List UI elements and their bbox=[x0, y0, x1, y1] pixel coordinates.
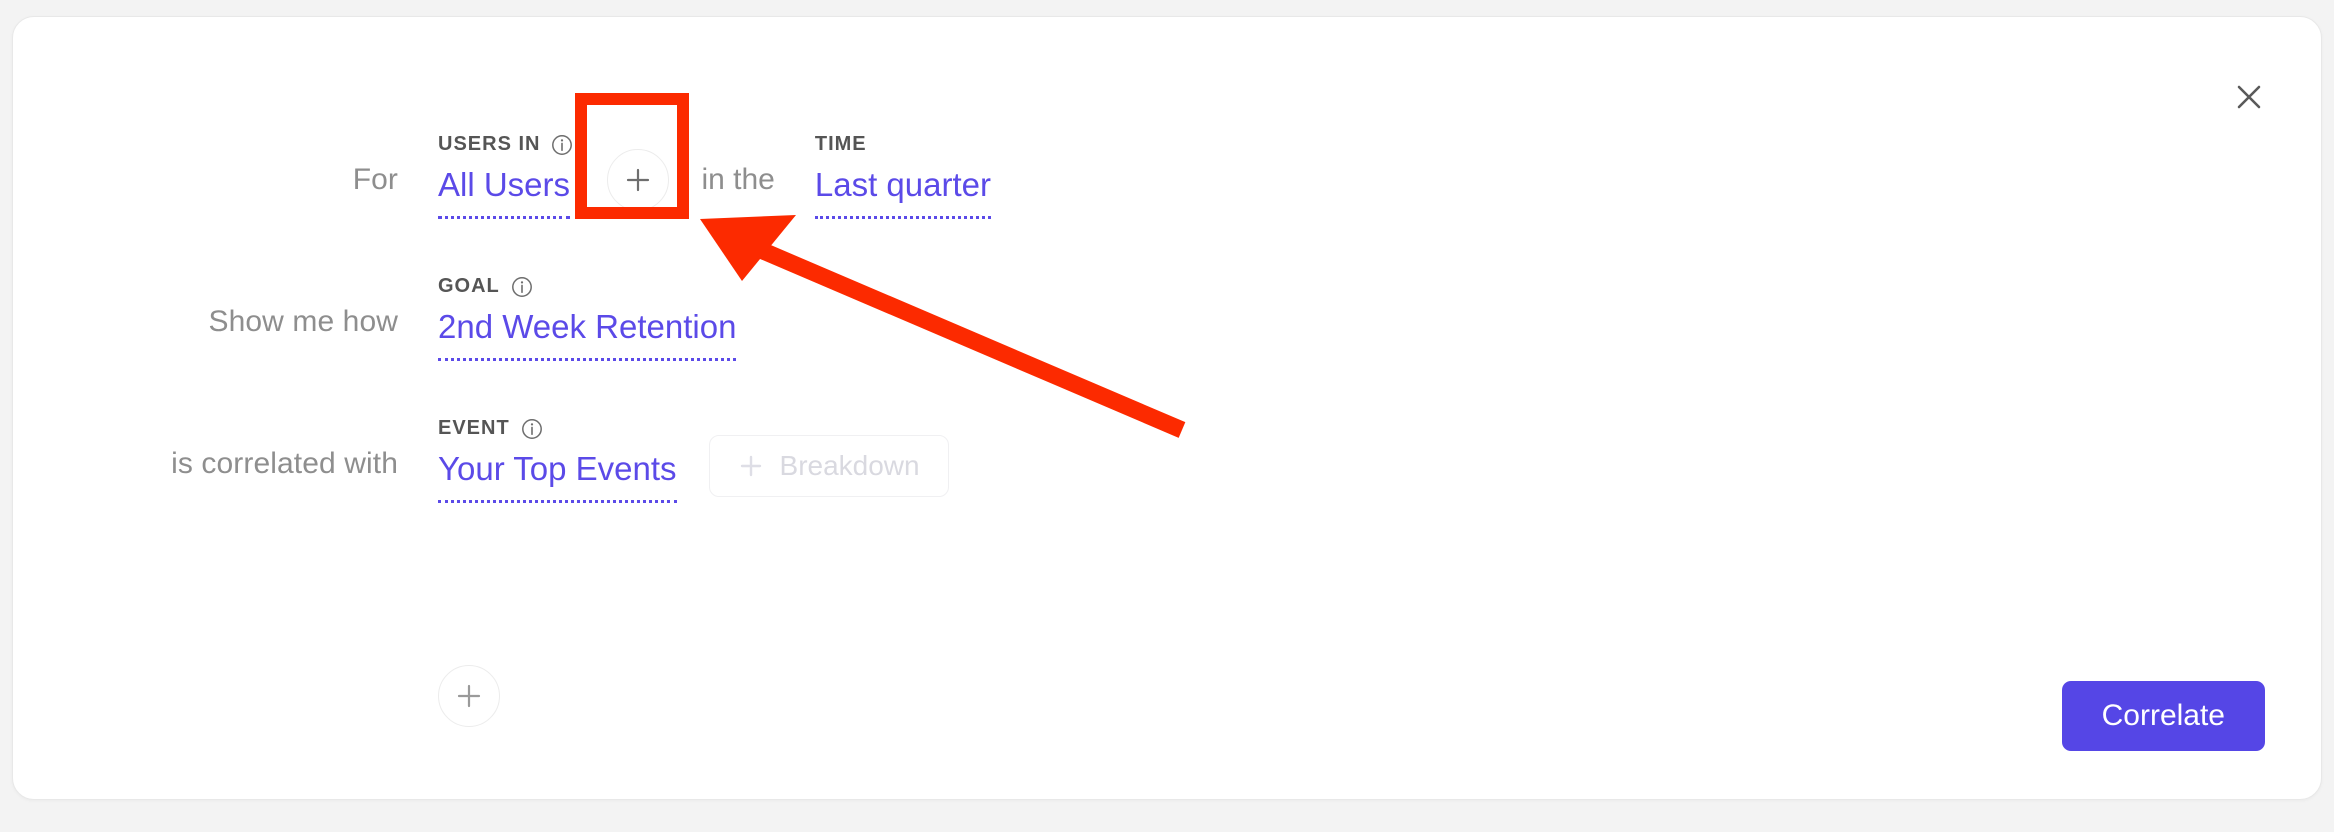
correlation-query-card: For USERS IN All Users bbox=[12, 16, 2322, 800]
field-label-time: TIME bbox=[815, 133, 867, 156]
add-breakdown-button[interactable]: Breakdown bbox=[709, 435, 949, 497]
field-value-time[interactable]: Last quarter bbox=[815, 166, 991, 219]
row-prefix-for: For bbox=[13, 165, 398, 219]
field-label-text: EVENT bbox=[438, 417, 510, 440]
add-breakdown-label: Breakdown bbox=[780, 450, 920, 482]
field-time: TIME Last quarter bbox=[815, 133, 991, 219]
field-value-goal[interactable]: 2nd Week Retention bbox=[438, 308, 736, 361]
field-event: EVENT Your Top Events bbox=[438, 417, 677, 503]
field-label-users-in: USERS IN bbox=[438, 133, 573, 156]
field-label-text: TIME bbox=[815, 133, 867, 156]
field-value-users-in[interactable]: All Users bbox=[438, 166, 570, 219]
plus-icon bbox=[455, 682, 483, 710]
field-users-in: USERS IN All Users bbox=[438, 133, 573, 219]
correlate-button[interactable]: Correlate bbox=[2062, 681, 2265, 751]
row-suffix-in-the: in the bbox=[701, 165, 774, 219]
row-prefix-is-correlated-with: is correlated with bbox=[13, 449, 398, 503]
screen: For USERS IN All Users bbox=[0, 0, 2334, 832]
row-prefix-show-me-how: Show me how bbox=[13, 307, 398, 361]
info-icon[interactable] bbox=[511, 276, 533, 298]
builder-row-users: For USERS IN All Users bbox=[13, 97, 1413, 219]
field-label-event: EVENT bbox=[438, 417, 543, 440]
builder-row-event: is correlated with EVENT Your Top Events bbox=[13, 381, 1413, 503]
close-icon-glyph bbox=[2234, 82, 2264, 112]
field-label-text: GOAL bbox=[438, 275, 500, 298]
close-icon[interactable] bbox=[2221, 69, 2277, 125]
builder-row-goal: Show me how GOAL 2nd Week Retention bbox=[13, 239, 1413, 361]
field-value-event[interactable]: Your Top Events bbox=[438, 450, 677, 503]
add-query-row-button[interactable] bbox=[438, 665, 500, 727]
plus-icon bbox=[738, 453, 764, 479]
field-label-goal: GOAL bbox=[438, 275, 533, 298]
field-label-text: USERS IN bbox=[438, 133, 540, 156]
info-icon[interactable] bbox=[551, 134, 573, 156]
plus-icon bbox=[624, 166, 652, 194]
field-goal: GOAL 2nd Week Retention bbox=[438, 275, 736, 361]
info-icon[interactable] bbox=[521, 418, 543, 440]
query-builder: For USERS IN All Users bbox=[13, 97, 1413, 503]
add-cohort-plus-button[interactable] bbox=[607, 149, 669, 211]
